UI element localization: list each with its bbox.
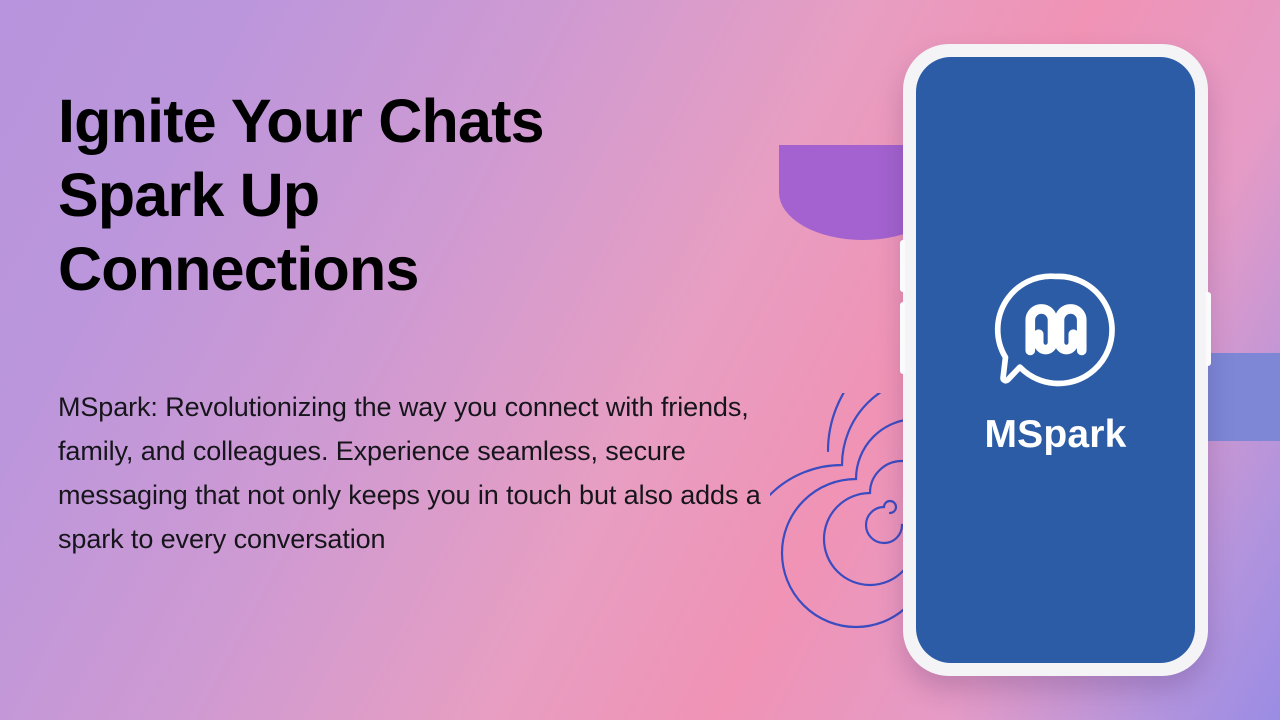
volume-up-button-icon[interactable] <box>900 240 905 292</box>
mspark-logo-icon <box>993 267 1119 393</box>
power-button-icon[interactable] <box>1206 292 1211 366</box>
promo-slide: Ignite Your Chats Spark Up Connections M… <box>0 0 1280 720</box>
page-title: Ignite Your Chats Spark Up Connections <box>58 84 818 306</box>
app-wordmark: MSpark <box>984 415 1126 454</box>
phone-screen: MSpark <box>916 57 1195 663</box>
volume-down-button-icon[interactable] <box>900 302 905 374</box>
headline-block: Ignite Your Chats Spark Up Connections <box>58 84 818 306</box>
body-paragraph: MSpark: Revolutionizing the way you conn… <box>58 385 818 561</box>
phone-mockup: MSpark <box>903 44 1208 676</box>
rectangle-decoration <box>1206 353 1280 441</box>
